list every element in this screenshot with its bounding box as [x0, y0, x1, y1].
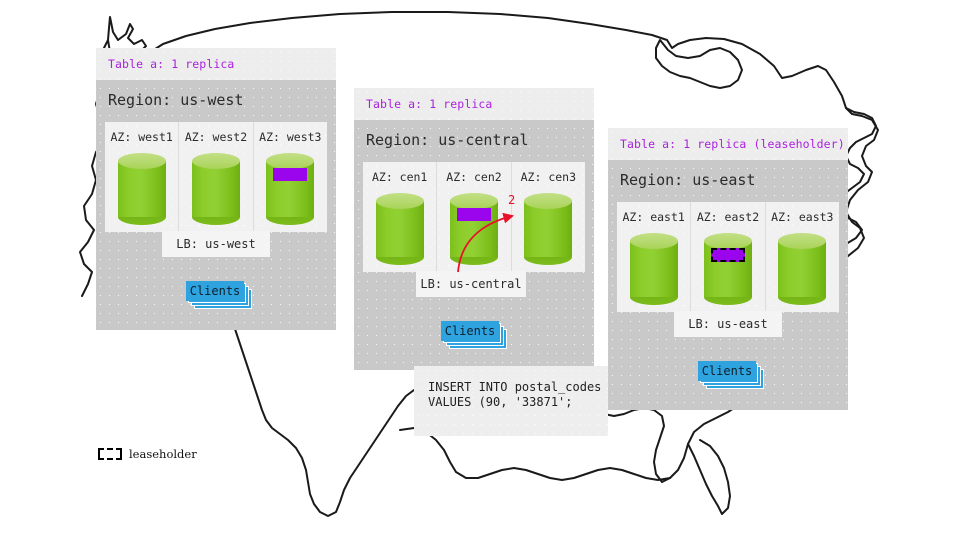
region-header-us-west: Table a: 1 replica: [96, 48, 336, 80]
region-title-us-west: Region: us-west: [96, 80, 336, 118]
replica-marker-west3[interactable]: [273, 168, 307, 181]
az-cen1[interactable]: AZ: cen1: [363, 162, 437, 272]
load-balancer-label-us-west: LB: us-west: [176, 237, 255, 251]
az-row-us-central: AZ: cen1 AZ: cen2 AZ: cen3: [363, 162, 585, 272]
node-cylinder-cen1[interactable]: [376, 193, 424, 265]
clients-label-us-central: Clients: [445, 324, 496, 338]
az-label-east2: AZ: east2: [697, 210, 759, 224]
node-cylinder-east1[interactable]: [630, 233, 678, 305]
cylinder-top: [704, 233, 752, 249]
az-cen3[interactable]: AZ: cen3: [512, 162, 585, 272]
cylinder-top: [192, 153, 240, 169]
load-balancer-label-us-east: LB: us-east: [688, 317, 767, 331]
clients-button-us-west[interactable]: Clients: [186, 281, 244, 301]
clients-label-us-east: Clients: [702, 364, 753, 378]
replica-marker-cen2[interactable]: [457, 208, 491, 221]
az-label-cen3: AZ: cen3: [521, 170, 576, 184]
region-header-us-east: Table a: 1 replica (leaseholder): [608, 128, 848, 160]
cylinder-top: [450, 193, 498, 209]
cylinder-top: [118, 153, 166, 169]
annotation-number-2: 2: [508, 193, 515, 207]
az-label-cen1: AZ: cen1: [372, 170, 427, 184]
az-row-us-east: AZ: east1 AZ: east2 AZ: east3: [617, 202, 839, 312]
cylinder-body: [118, 161, 166, 217]
clients-button-us-east[interactable]: Clients: [698, 361, 756, 381]
az-label-east3: AZ: east3: [771, 210, 833, 224]
cylinder-top: [778, 233, 826, 249]
replica-marker-east2-leaseholder[interactable]: [711, 248, 745, 262]
dashed-rect-icon: [98, 448, 122, 460]
sql-statement-box: INSERT INTO postal_codes VALUES (90, '33…: [414, 366, 608, 436]
az-east2[interactable]: AZ: east2: [691, 202, 765, 312]
clients-stack-us-central[interactable]: Clients: [441, 321, 507, 349]
region-header-us-central: Table a: 1 replica: [354, 88, 594, 120]
clients-label-us-west: Clients: [190, 284, 241, 298]
cylinder-top: [376, 193, 424, 209]
clients-button-us-central[interactable]: Clients: [441, 321, 499, 341]
node-cylinder-cen3[interactable]: [524, 193, 572, 265]
load-balancer-label-us-central: LB: us-central: [420, 277, 521, 291]
node-cylinder-west3[interactable]: [266, 153, 314, 225]
node-cylinder-east3[interactable]: [778, 233, 826, 305]
az-label-west2: AZ: west2: [185, 130, 247, 144]
az-cen2[interactable]: AZ: cen2: [437, 162, 511, 272]
region-title-us-east: Region: us-east: [608, 160, 848, 198]
diagram-canvas: Table a: 1 replica Region: us-west AZ: w…: [0, 0, 960, 540]
cylinder-body: [778, 241, 826, 297]
az-west3[interactable]: AZ: west3: [254, 122, 327, 232]
cylinder-top: [630, 233, 678, 249]
load-balancer-us-west[interactable]: LB: us-west: [162, 231, 270, 257]
node-cylinder-west1[interactable]: [118, 153, 166, 225]
node-cylinder-cen2[interactable]: [450, 193, 498, 265]
az-west1[interactable]: AZ: west1: [105, 122, 179, 232]
az-east3[interactable]: AZ: east3: [766, 202, 839, 312]
az-label-east1: AZ: east1: [623, 210, 685, 224]
az-row-us-west: AZ: west1 AZ: west2 AZ: west3: [105, 122, 327, 232]
cylinder-body: [192, 161, 240, 217]
az-label-cen2: AZ: cen2: [446, 170, 501, 184]
legend-leaseholder: leaseholder: [98, 447, 197, 461]
cylinder-body: [630, 241, 678, 297]
az-west2[interactable]: AZ: west2: [179, 122, 253, 232]
sql-statement-text: INSERT INTO postal_codes VALUES (90, '33…: [428, 380, 601, 409]
node-cylinder-west2[interactable]: [192, 153, 240, 225]
legend-label-leaseholder: leaseholder: [129, 447, 197, 461]
az-east1[interactable]: AZ: east1: [617, 202, 691, 312]
region-title-us-central: Region: us-central: [354, 120, 594, 158]
cylinder-top: [524, 193, 572, 209]
clients-stack-us-east[interactable]: Clients: [698, 361, 764, 389]
cylinder-body: [376, 201, 424, 257]
az-label-west3: AZ: west3: [259, 130, 321, 144]
cylinder-body: [524, 201, 572, 257]
node-cylinder-east2[interactable]: [704, 233, 752, 305]
load-balancer-us-central[interactable]: LB: us-central: [416, 271, 526, 297]
load-balancer-us-east[interactable]: LB: us-east: [674, 311, 782, 337]
cylinder-top: [266, 153, 314, 169]
az-label-west1: AZ: west1: [111, 130, 173, 144]
clients-stack-us-west[interactable]: Clients: [186, 281, 252, 309]
